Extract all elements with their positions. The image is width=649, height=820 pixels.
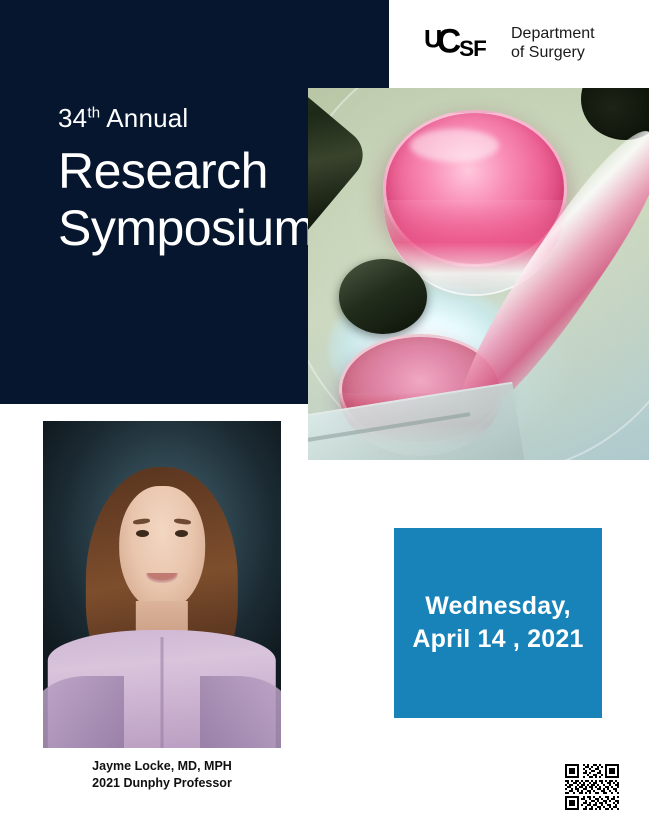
lab-photo — [308, 88, 649, 460]
svg-text:SF: SF — [459, 36, 486, 61]
department-line-1: Department — [511, 25, 595, 44]
department-line-2: of Surgery — [511, 44, 595, 63]
edition-word: Annual — [106, 103, 188, 133]
speaker-name: Jayme Locke, MD, MPH — [43, 758, 281, 775]
portrait-blouse-seam — [161, 637, 164, 748]
ucsf-logo-lockup: U C SF Department of Surgery — [424, 22, 595, 66]
svg-text:C: C — [437, 22, 462, 60]
event-date-line-1: Wednesday, — [425, 590, 571, 623]
registration-qr-code[interactable] — [563, 762, 621, 812]
ucsf-wordmark-icon: U C SF — [424, 22, 502, 66]
portrait-shoulder-right — [200, 676, 281, 748]
portrait-shoulder-left — [43, 676, 124, 748]
symposium-flyer: 34th Annual Research Symposium U C SF — [0, 0, 649, 820]
edition-number: 34 — [58, 103, 87, 133]
department-name: Department of Surgery — [511, 25, 595, 63]
speaker-portrait — [43, 421, 281, 748]
event-date-box: Wednesday, April 14 , 2021 — [394, 528, 602, 718]
speaker-role: 2021 Dunphy Professor — [43, 775, 281, 792]
speaker-caption: Jayme Locke, MD, MPH 2021 Dunphy Profess… — [43, 758, 281, 792]
petri-dish-upper-highlight — [410, 129, 499, 162]
edition-suffix: th — [87, 104, 100, 121]
portrait-face — [119, 486, 205, 610]
microscope-objective — [339, 259, 428, 333]
event-date-line-2: April 14 , 2021 — [412, 623, 583, 656]
